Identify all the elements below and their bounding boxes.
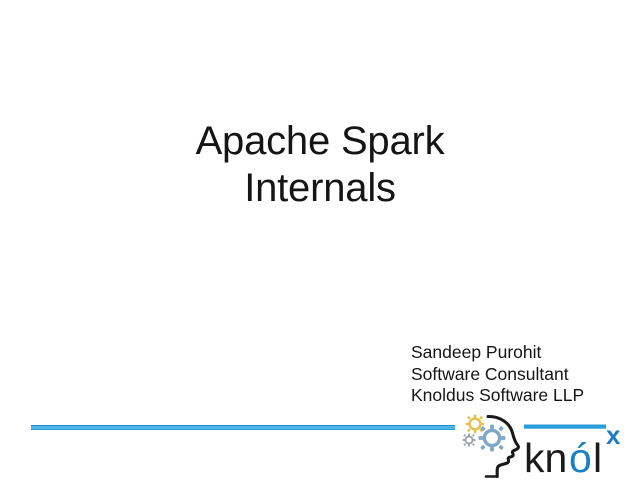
presenter-info: Sandeep Purohit Software Consultant Knol… <box>411 342 584 407</box>
logo-wordmark-suffix: l <box>593 435 602 480</box>
logo-overbar <box>524 425 606 429</box>
presenter-company: Knoldus Software LLP <box>411 385 584 407</box>
logo-wordmark-prefix: kn <box>524 435 567 480</box>
logo-wordmark-accent: ó <box>569 435 592 480</box>
divider-rule <box>31 425 455 430</box>
title-line-1: Apache Spark <box>0 118 640 165</box>
knoldus-logo: kn ó l x <box>458 414 640 480</box>
gear-blue-icon <box>479 425 506 452</box>
logo-superscript-x: x <box>606 420 621 450</box>
presenter-name: Sandeep Purohit <box>411 342 584 364</box>
title-line-2: Internals <box>0 165 640 212</box>
page-title: Apache Spark Internals <box>0 118 640 212</box>
gear-gold-icon <box>466 415 484 433</box>
gear-gray-icon <box>463 434 476 447</box>
presenter-role: Software Consultant <box>411 364 584 386</box>
slide-canvas: Apache Spark Internals Sandeep Purohit S… <box>0 0 640 480</box>
